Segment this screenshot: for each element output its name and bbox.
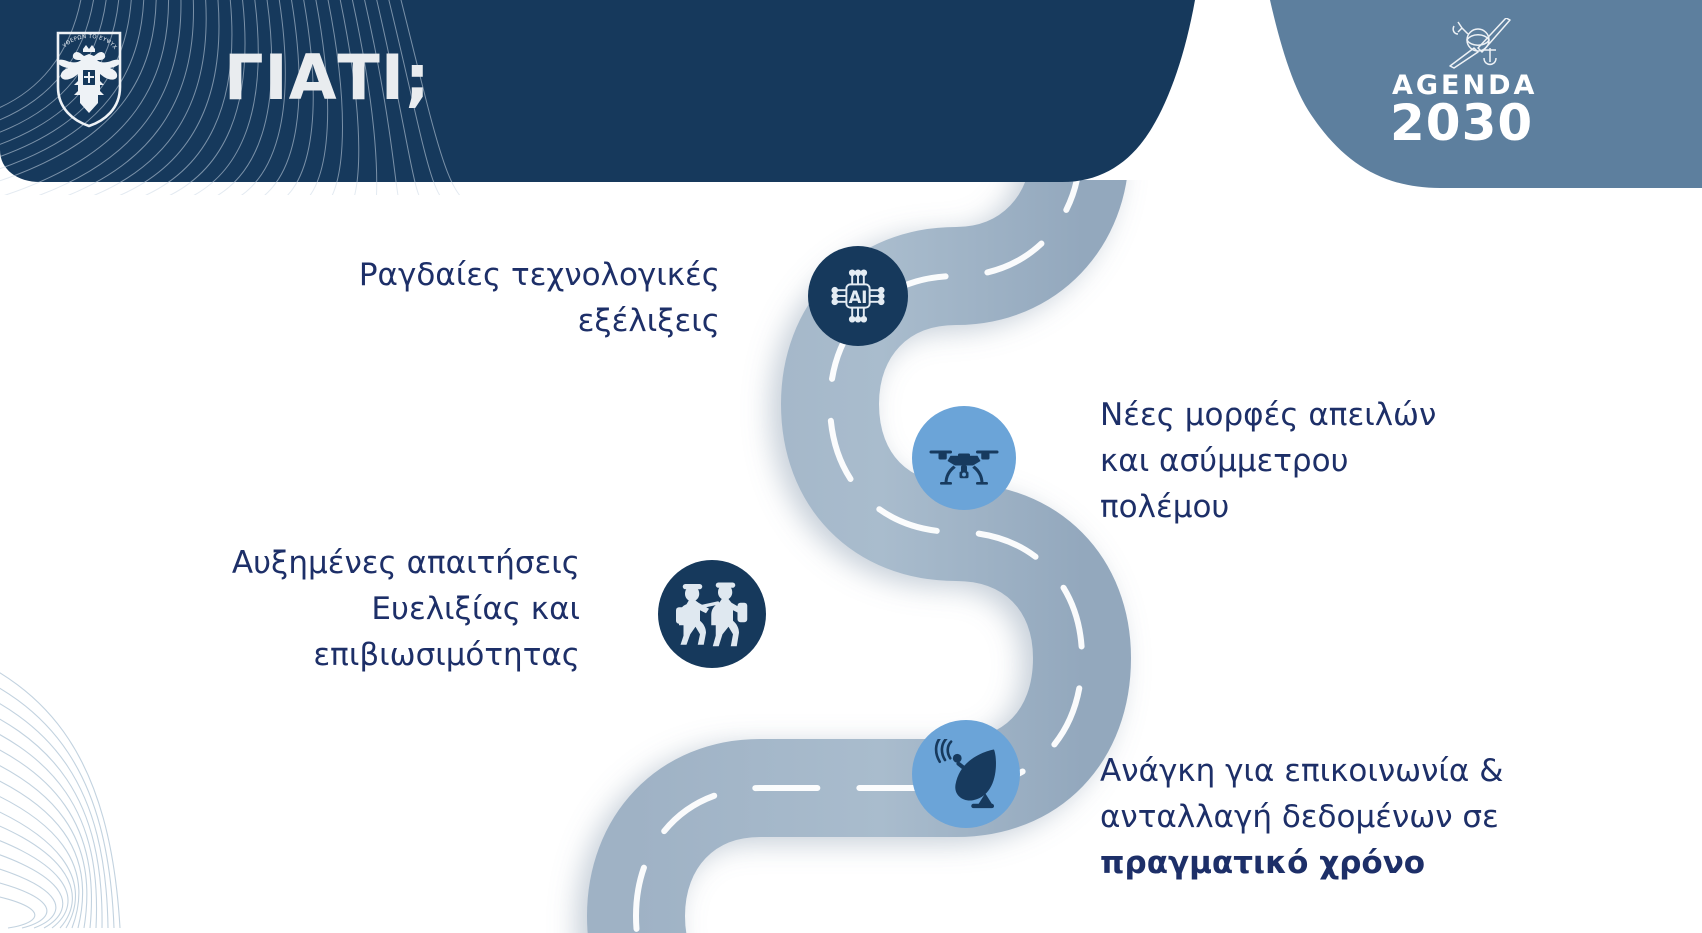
svg-text:AI: AI (849, 288, 868, 307)
slide-header: ΕΛΕΥΘΕΡΩΝ ΤΟ ΕΥΨΥΧΟΝ ΓΙΑΤΙ; (0, 0, 1702, 210)
slide-canvas: AI (0, 0, 1702, 933)
svg-text:ΕΛΕΥΘΕΡΩΝ ΤΟ ΕΥΨΥΧΟΝ: ΕΛΕΥΘΕΡΩΝ ΤΟ ΕΥΨΥΧΟΝ (50, 25, 118, 51)
drone-icon (928, 430, 1000, 486)
roadmap-label-threat: Νέες μορφές απειλών και ασύμμετρου πολέμ… (1100, 392, 1530, 530)
roadmap-label-comms-bold: πραγματικό χρόνο (1100, 845, 1425, 881)
agenda-year-text: 2030 (1392, 94, 1533, 146)
trident-anchor-emblem-icon (1444, 18, 1524, 70)
roadmap-node-soldiers[interactable] (658, 560, 766, 668)
roadmap-label-comms: Ανάγκη για επικοινωνία & ανταλλαγή δεδομ… (1100, 702, 1560, 886)
page-title: ΓΙΑΤΙ; (224, 44, 431, 112)
roadmap-node-ai[interactable]: AI (808, 246, 908, 346)
roadmap-node-drone[interactable] (912, 406, 1016, 510)
roadmap-node-satcom[interactable] (912, 720, 1020, 828)
agenda-2030-logo: AGENDA 2030 (1392, 18, 1592, 148)
roadmap-label-tech: Ραγδαίες τεχνολογικές εξέλιξεις (300, 252, 720, 344)
satellite-dish-icon (929, 739, 1003, 809)
roadmap-label-agility: Αυξημένες απαιτήσεις Ευελιξίας και επιβι… (180, 540, 580, 678)
agenda-2030-wordmark: AGENDA 2030 (1392, 68, 1592, 146)
ai-chip-icon: AI (827, 265, 889, 327)
roadmap-label-comms-normal: Ανάγκη για επικοινωνία & ανταλλαγή δεδομ… (1100, 753, 1503, 835)
header-navy-panel (0, 0, 1195, 182)
hellenic-army-double-eagle-shield-emblem: ΕΛΕΥΘΕΡΩΝ ΤΟ ΕΥΨΥΧΟΝ (50, 25, 128, 130)
soldiers-icon (673, 580, 751, 648)
